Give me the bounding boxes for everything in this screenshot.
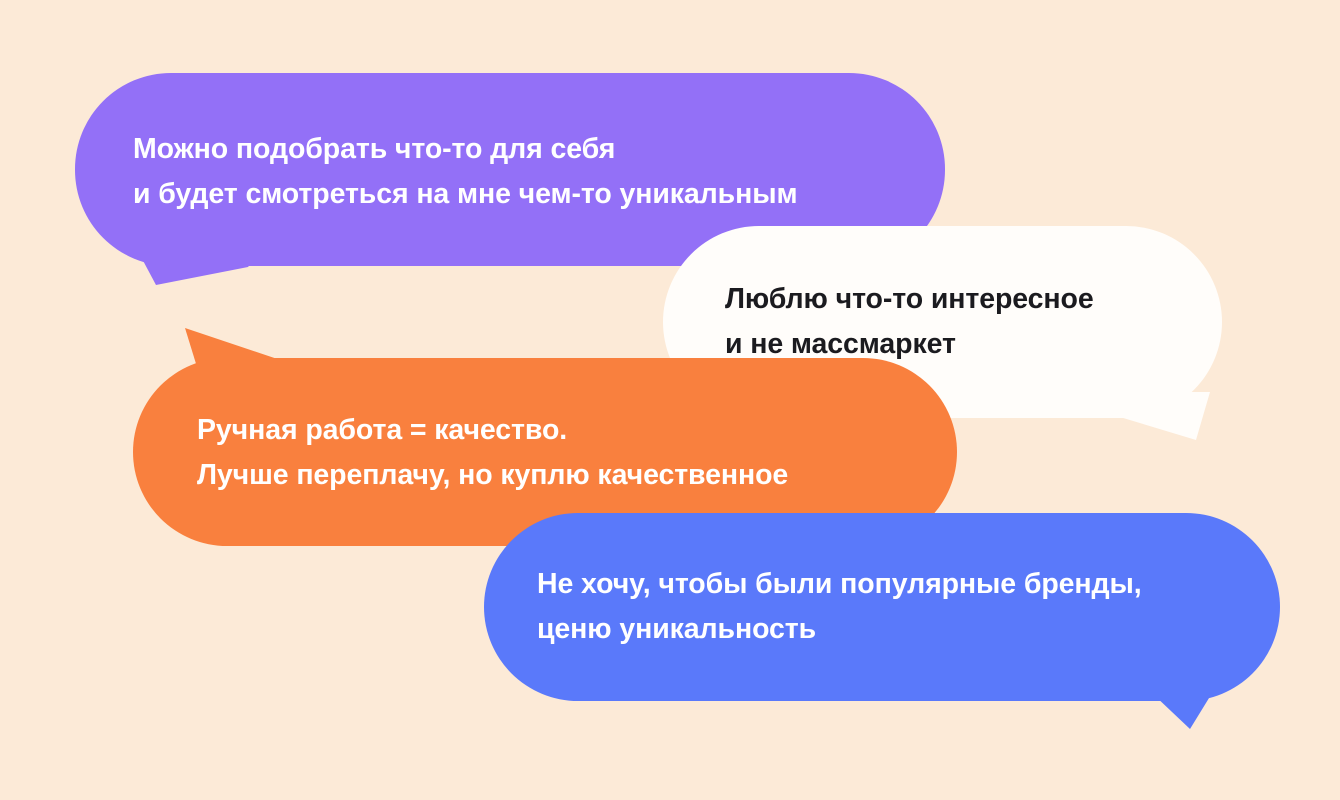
purple-bubble-text: Можно подобрать что-то для себя и будет … [133,127,797,217]
orange-bubble-text: Ручная работа = качество. Лучше переплач… [197,408,788,498]
blue-bubble-text: Не хочу, чтобы были популярные бренды, ц… [537,562,1142,652]
speech-bubble-collage: Можно подобрать что-то для себя и будет … [0,0,1340,800]
speech-bubble-blue[interactable]: Не хочу, чтобы были популярные бренды, ц… [484,513,1280,701]
white-bubble-text: Люблю что-то интересное и не массмаркет [725,277,1094,367]
